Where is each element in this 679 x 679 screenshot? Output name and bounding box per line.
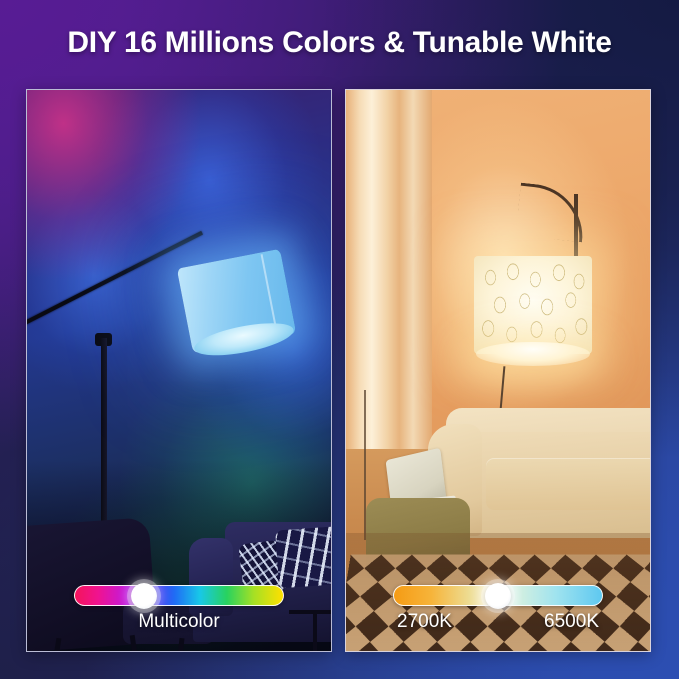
tunable-white-slider-control[interactable]: 2700K 6500K [393, 585, 603, 633]
side-table-leg [313, 612, 317, 651]
curtain [346, 90, 432, 449]
lamp-glow [476, 342, 590, 366]
color-temp-max-label: 6500K [544, 611, 599, 633]
multicolor-slider-control[interactable]: Multicolor [74, 585, 284, 633]
panel-multicolor: Multicolor [26, 89, 332, 652]
lamp-shade-pattern [474, 256, 592, 354]
lamp-shade-seam [261, 254, 278, 331]
tunable-white-slider-labels: 2700K 6500K [393, 611, 603, 633]
lamp-pole [574, 194, 578, 260]
multicolor-slider-track[interactable] [74, 585, 284, 606]
lamp-shade-blue [177, 249, 296, 353]
panel-tunable-white: 2700K 6500K [345, 89, 651, 652]
side-table-top [289, 610, 331, 614]
color-temp-min-label: 2700K [397, 611, 452, 633]
tunable-white-slider-knob[interactable] [485, 583, 511, 609]
patterned-pillow [275, 526, 331, 589]
lamp-shade-patterned [474, 256, 592, 354]
page-title: DIY 16 Millions Colors & Tunable White [0, 26, 679, 60]
multicolor-room-photo [27, 90, 331, 651]
multicolor-slider-label: Multicolor [74, 611, 284, 633]
multicolor-slider-knob[interactable] [131, 583, 157, 609]
tunable-white-slider-track[interactable] [393, 585, 603, 606]
tunable-white-room-photo [346, 90, 650, 651]
lamp-pole [101, 338, 107, 548]
sofa-cushion [486, 458, 650, 510]
